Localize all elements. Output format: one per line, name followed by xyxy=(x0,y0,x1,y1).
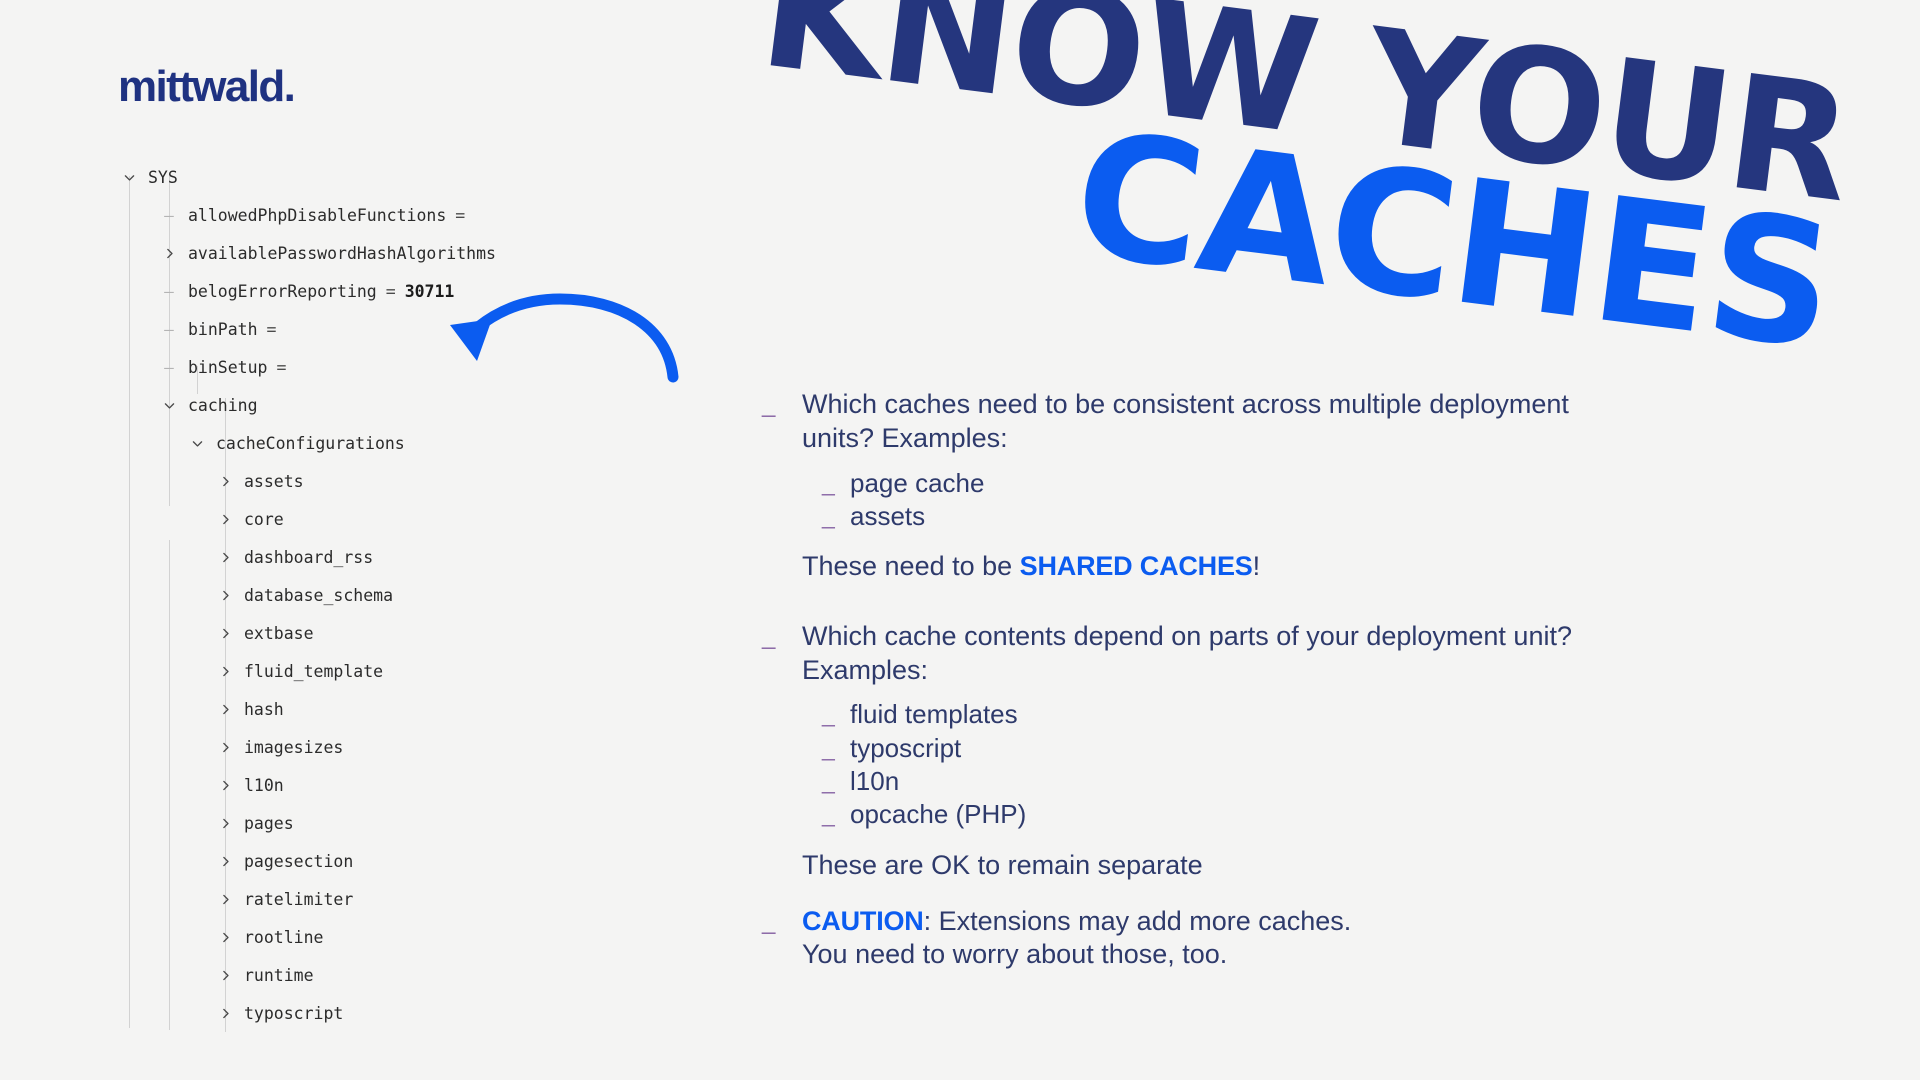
tree-node-label: pages xyxy=(244,814,294,833)
bullet-dash-icon: _ xyxy=(822,765,850,798)
tree-node-extbase[interactable]: extbase xyxy=(118,614,588,652)
chevron-right-icon[interactable] xyxy=(214,855,236,868)
tree-node-label: binPath xyxy=(188,320,258,339)
chevron-right-icon[interactable] xyxy=(214,513,236,526)
tree-node-equals: = xyxy=(386,282,396,301)
configuration-tree: SYS–allowedPhpDisableFunctions=available… xyxy=(118,158,588,1032)
chevron-right-icon[interactable] xyxy=(214,969,236,982)
tree-node-label: pagesection xyxy=(244,852,353,871)
tree-node-assets[interactable]: assets xyxy=(118,462,588,500)
tree-node-value: 30711 xyxy=(405,282,455,301)
tree-node-label: imagesizes xyxy=(244,738,343,757)
caution-text: CAUTION: Extensions may add more caches.… xyxy=(802,905,1622,973)
tree-node-label: core xyxy=(244,510,284,529)
example-item: _page cache xyxy=(822,467,1622,500)
example-text: typoscript xyxy=(850,732,961,765)
tree-node-pagesection[interactable]: pagesection xyxy=(118,842,588,880)
bullet-dash-icon: _ xyxy=(822,698,850,731)
bullet-dash-icon: _ xyxy=(762,388,802,423)
note-prefix: These need to be xyxy=(802,551,1020,581)
tree-node-label: binSetup xyxy=(188,358,267,377)
chevron-right-icon[interactable] xyxy=(214,627,236,640)
tree-node-label: SYS xyxy=(148,168,178,187)
bullet-item: _ Which caches need to be consistent acr… xyxy=(762,388,1622,456)
example-item: _assets xyxy=(822,500,1622,533)
tree-node-hash[interactable]: hash xyxy=(118,690,588,728)
note-suffix: ! xyxy=(1253,551,1261,581)
chevron-right-icon[interactable] xyxy=(214,931,236,944)
chevron-right-icon[interactable] xyxy=(214,475,236,488)
tree-leaf-dash-icon: – xyxy=(158,358,180,377)
chevron-right-icon[interactable] xyxy=(214,741,236,754)
tree-node-caching[interactable]: caching xyxy=(118,386,588,424)
headline-line-2: CACHES xyxy=(709,75,1839,362)
example-list: _fluid templates_typoscript_l10n_opcache… xyxy=(822,698,1622,831)
tree-node-typoscript[interactable]: typoscript xyxy=(118,994,588,1032)
bullet-text: Which caches need to be consistent acros… xyxy=(802,388,1622,456)
tree-leaf-dash-icon: – xyxy=(158,206,180,225)
chevron-right-icon[interactable] xyxy=(214,665,236,678)
bullet-dash-icon: _ xyxy=(762,620,802,655)
tree-node-label: caching xyxy=(188,396,258,415)
example-text: l10n xyxy=(850,765,899,798)
example-text: page cache xyxy=(850,467,984,500)
chevron-right-icon[interactable] xyxy=(214,589,236,602)
chevron-right-icon[interactable] xyxy=(214,817,236,830)
tree-node-ratelimiter[interactable]: ratelimiter xyxy=(118,880,588,918)
note-line-shared-caches: These need to be SHARED CACHES! xyxy=(802,550,1622,584)
chevron-right-icon[interactable] xyxy=(214,703,236,716)
tree-node-binpath[interactable]: –binPath= xyxy=(118,310,588,348)
bullet-dash-icon: _ xyxy=(822,732,850,765)
chevron-right-icon[interactable] xyxy=(214,779,236,792)
tree-node-pages[interactable]: pages xyxy=(118,804,588,842)
chevron-down-icon[interactable] xyxy=(118,171,140,184)
chevron-right-icon[interactable] xyxy=(214,893,236,906)
example-text: fluid templates xyxy=(850,698,1018,731)
tree-leaf-dash-icon: – xyxy=(158,282,180,301)
tree-node-label: belogErrorReporting xyxy=(188,282,377,301)
note-line-remain-separate: These are OK to remain separate xyxy=(802,849,1622,883)
tree-node-label: assets xyxy=(244,472,304,491)
tree-node-label: extbase xyxy=(244,624,314,643)
tree-node-runtime[interactable]: runtime xyxy=(118,956,588,994)
tree-node-equals: = xyxy=(455,206,465,225)
tree-node-label: database_schema xyxy=(244,586,393,605)
tree-node-label: cacheConfigurations xyxy=(216,434,405,453)
tree-node-l10n[interactable]: l10n xyxy=(118,766,588,804)
tree-node-database_schema[interactable]: database_schema xyxy=(118,576,588,614)
brand-logo: mittwald. xyxy=(118,62,294,112)
tree-node-cacheconfigurations[interactable]: cacheConfigurations xyxy=(118,424,588,462)
tree-node-label: dashboard_rss xyxy=(244,548,373,567)
tree-node-sys[interactable]: SYS xyxy=(118,158,588,196)
content-column: _ Which caches need to be consistent acr… xyxy=(762,388,1622,972)
chevron-right-icon[interactable] xyxy=(214,1007,236,1020)
example-item: _l10n xyxy=(822,765,1622,798)
example-text: opcache (PHP) xyxy=(850,798,1026,831)
bullet-item: _ Which cache contents depend on parts o… xyxy=(762,620,1622,688)
tree-node-equals: = xyxy=(276,358,286,377)
bullet-item-caution: _ CAUTION: Extensions may add more cache… xyxy=(762,905,1622,973)
example-item: _typoscript xyxy=(822,732,1622,765)
chevron-right-icon[interactable] xyxy=(214,551,236,564)
tree-node-availablepasswordhashalgorithms[interactable]: availablePasswordHashAlgorithms xyxy=(118,234,588,272)
note-accent-shared-caches: SHARED CACHES xyxy=(1020,551,1253,581)
page-headline: KNOW YOUR CACHES xyxy=(709,0,1856,362)
bullet-text: Which cache contents depend on parts of … xyxy=(802,620,1622,688)
example-item: _opcache (PHP) xyxy=(822,798,1622,831)
tree-node-belogerrorreporting[interactable]: –belogErrorReporting=30711 xyxy=(118,272,588,310)
tree-node-core[interactable]: core xyxy=(118,500,588,538)
tree-node-fluid_template[interactable]: fluid_template xyxy=(118,652,588,690)
chevron-down-icon[interactable] xyxy=(158,399,180,412)
content-block-1: _ Which caches need to be consistent acr… xyxy=(762,388,1622,584)
tree-node-label: rootline xyxy=(244,928,323,947)
caution-line-2: You need to worry about those, too. xyxy=(802,939,1227,969)
example-list: _page cache_assets xyxy=(822,467,1622,534)
headline-line-1: KNOW YOUR xyxy=(728,0,1856,215)
tree-node-binsetup[interactable]: –binSetup= xyxy=(118,348,588,386)
example-item: _fluid templates xyxy=(822,698,1622,731)
example-text: assets xyxy=(850,500,925,533)
chevron-down-icon[interactable] xyxy=(186,437,208,450)
bullet-dash-icon: _ xyxy=(822,500,850,533)
bullet-dash-icon: _ xyxy=(822,798,850,831)
tree-leaf-dash-icon: – xyxy=(158,320,180,339)
bullet-dash-icon: _ xyxy=(822,467,850,500)
tree-node-label: ratelimiter xyxy=(244,890,353,909)
content-block-2: _ Which cache contents depend on parts o… xyxy=(762,620,1622,883)
tree-node-label: fluid_template xyxy=(244,662,383,681)
tree-node-label: allowedPhpDisableFunctions xyxy=(188,206,446,225)
tree-node-label: hash xyxy=(244,700,284,719)
bullet-dash-icon: _ xyxy=(762,905,802,940)
chevron-right-icon[interactable] xyxy=(158,247,180,260)
tree-node-equals: = xyxy=(267,320,277,339)
tree-node-imagesizes[interactable]: imagesizes xyxy=(118,728,588,766)
caution-line-1: : Extensions may add more caches. xyxy=(924,906,1352,936)
caution-label: CAUTION xyxy=(802,906,924,936)
tree-node-rootline[interactable]: rootline xyxy=(118,918,588,956)
tree-node-label: typoscript xyxy=(244,1004,343,1023)
content-block-3: _ CAUTION: Extensions may add more cache… xyxy=(762,905,1622,973)
tree-node-dashboard_rss[interactable]: dashboard_rss xyxy=(118,538,588,576)
tree-node-label: availablePasswordHashAlgorithms xyxy=(188,244,496,263)
tree-node-label: runtime xyxy=(244,966,314,985)
tree-node-label: l10n xyxy=(244,776,284,795)
tree-node-allowedphpdisablefunctions[interactable]: –allowedPhpDisableFunctions= xyxy=(118,196,588,234)
